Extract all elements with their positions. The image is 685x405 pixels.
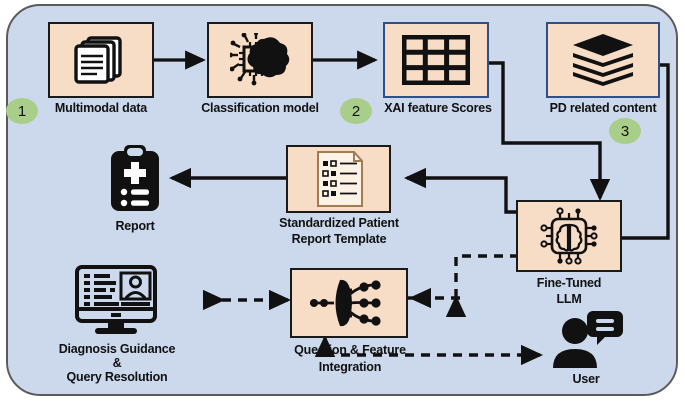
- label-report-template-line1: Standardized Patient: [268, 216, 410, 230]
- label-fine-tuned-llm-line1: Fine-Tuned: [510, 276, 628, 290]
- books-stack-icon: [570, 32, 636, 88]
- diagram-canvas: Multimodal data 1: [0, 0, 685, 405]
- label-classification-model: Classification model: [190, 101, 330, 115]
- label-report: Report: [95, 219, 175, 233]
- label-xai-feature-scores: XAI feature Scores: [368, 101, 508, 115]
- ai-chip-brain-icon: [230, 33, 290, 87]
- node-diagnosis-guidance[interactable]: [72, 263, 162, 339]
- badge-1: 1: [6, 98, 38, 124]
- node-user[interactable]: [548, 308, 624, 370]
- label-diagnosis-line1: Diagnosis Guidance: [36, 342, 198, 356]
- label-question-feature-line1: Question & Feature: [272, 343, 428, 357]
- node-xai-feature-scores[interactable]: [383, 22, 489, 98]
- clipboard-medical-icon: [108, 145, 162, 213]
- badge-2: 2: [340, 98, 372, 124]
- label-pd-related-content: PD related content: [528, 101, 678, 115]
- brain-chip-icon: [538, 207, 600, 265]
- node-question-feature-integration[interactable]: [290, 268, 408, 338]
- node-pd-related-content[interactable]: [546, 22, 660, 98]
- label-diagnosis-line2: &: [36, 356, 198, 370]
- label-question-feature-line2: Integration: [272, 360, 428, 374]
- documents-stack-icon: [70, 34, 132, 86]
- node-report[interactable]: [104, 143, 166, 215]
- label-multimodal-data: Multimodal data: [36, 101, 166, 115]
- node-fine-tuned-llm[interactable]: [516, 200, 622, 272]
- checklist-document-icon: [312, 150, 366, 208]
- label-report-template-line2: Report Template: [268, 232, 410, 246]
- user-chat-icon: [549, 309, 623, 369]
- label-diagnosis-line3: Query Resolution: [36, 370, 198, 384]
- badge-3: 3: [609, 118, 641, 144]
- node-multimodal-data[interactable]: [48, 22, 154, 98]
- node-report-template[interactable]: [286, 145, 391, 213]
- monitor-profile-icon: [75, 265, 159, 337]
- funnel-split-icon: [304, 276, 394, 330]
- table-grid-icon: [402, 35, 470, 85]
- node-classification-model[interactable]: [207, 22, 313, 98]
- label-user: User: [546, 372, 626, 386]
- label-fine-tuned-llm-line2: LLM: [510, 292, 628, 306]
